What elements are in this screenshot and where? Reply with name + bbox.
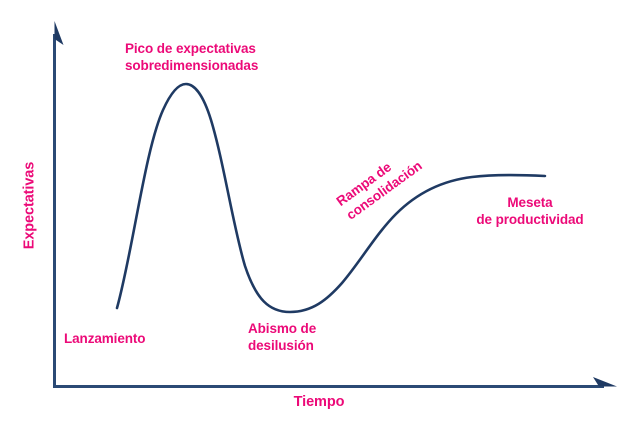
- annotation-plateau: Meseta de productividad: [445, 194, 615, 228]
- annotation-trigger: Lanzamiento: [64, 330, 145, 347]
- x-axis-title: Tiempo: [0, 394, 638, 411]
- hype-cycle-figure: Tiempo Expectativas Lanzamiento Pico de …: [0, 0, 638, 431]
- annotation-peak: Pico de expectativas sobredimensionadas: [125, 40, 258, 74]
- annotation-trough: Abismo de desilusión: [248, 320, 388, 354]
- y-axis-title: Expectativas: [22, 136, 39, 276]
